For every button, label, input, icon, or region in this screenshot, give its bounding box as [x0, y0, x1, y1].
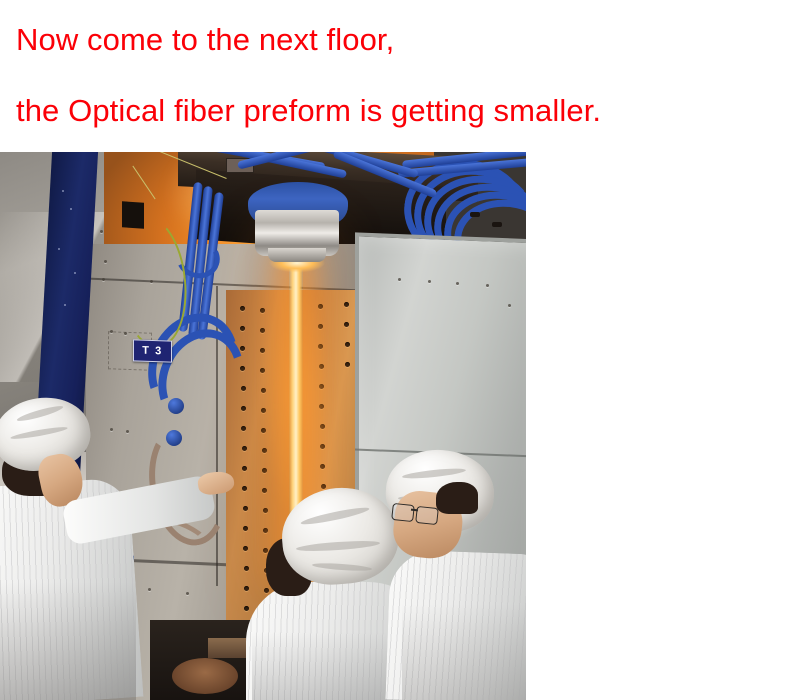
cabinet-rivet: [110, 330, 113, 333]
chuck-collar: [268, 248, 326, 262]
caption-line-1: Now come to the next floor,: [16, 24, 394, 55]
slide-canvas: Now come to the next floor, the Optical …: [0, 0, 800, 700]
door-rivet: [486, 284, 489, 287]
machine-tag-placard: T 3: [133, 339, 172, 362]
wall-vent-opening: [122, 201, 144, 229]
cabinet-rivet: [100, 230, 103, 233]
eyeglasses-lens: [415, 506, 439, 525]
door-rivet: [398, 278, 401, 281]
eyeglasses-lens: [391, 503, 415, 522]
floor-wooden-box: [208, 638, 246, 658]
factory-photo: T 3: [0, 152, 526, 700]
door-rivet: [428, 280, 431, 283]
door-rivet: [508, 304, 511, 307]
floor-round-disc: [172, 658, 238, 694]
cabinet-rivet: [110, 428, 113, 431]
caption-line-2: the Optical fiber preform is getting sma…: [16, 95, 601, 126]
cabinet-rivet: [126, 430, 129, 433]
cabinet-rivet: [124, 332, 127, 335]
door-rivet: [456, 282, 459, 285]
operator-right-hair: [436, 482, 478, 514]
cabinet-rivet: [102, 278, 105, 281]
caption-block: Now come to the next floor, the Optical …: [0, 0, 800, 152]
cabinet-rivet: [104, 260, 107, 263]
cabinet-rivet: [186, 592, 189, 595]
